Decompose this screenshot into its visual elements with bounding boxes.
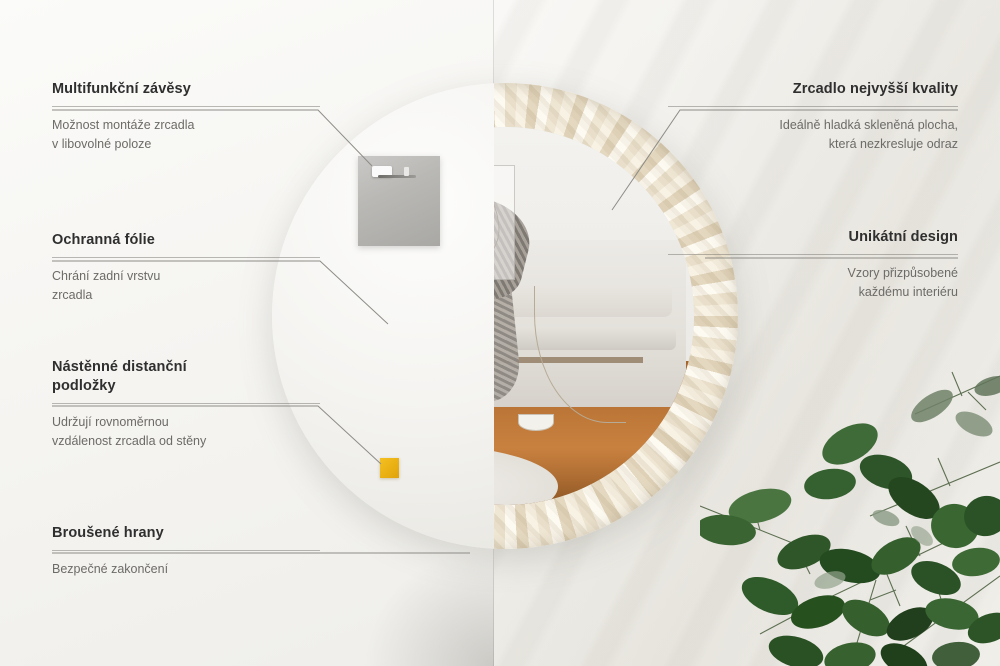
callout-brousene-hrany: Broušené hrany Bezpečné zakončení [52,524,320,579]
callout-ochranna-folie: Ochranná fólie Chrání zadní vrstvu zrcad… [52,231,320,305]
callout-desc-line1: Chrání zadní vrstvu [52,267,320,286]
callout-title: Zrcadlo nejvyšší kvality [668,80,958,99]
callout-nastenne-distancni-podlozky: Nástěnné distanční podložky Udržují rovn… [52,358,320,451]
callout-unikatni-design: Unikátní design Vzory přizpůsobené každé… [668,228,958,302]
plant-leaves [700,372,1000,666]
infographic-canvas: Multifunkční závěsy Možnost montáže zrca… [0,0,1000,666]
callout-zrcadlo-nejvyssi-kvality: Zrcadlo nejvyšší kvality Ideálně hladká … [668,80,958,154]
callout-desc-line2: v libovolné poloze [52,135,320,154]
callout-title: Unikátní design [668,228,958,247]
hanger-tip [404,167,409,176]
callout-desc-line2: zrcadla [52,286,320,305]
plant-foliage [700,366,1000,666]
callout-desc-line2: každému interiéru [668,283,958,302]
callout-rule [52,550,320,551]
callout-rule [52,403,320,404]
callout-multifunkcni-zavesy: Multifunkční závěsy Možnost montáže zrca… [52,80,320,154]
callout-desc-line1: Udržují rovnoměrnou [52,413,320,432]
hanger-bar [378,175,416,178]
callout-desc-line1: Ideálně hladká skleněná plocha, [668,116,958,135]
mirror-back-plate [358,156,440,246]
callout-desc-line2: která nezkresluje odraz [668,135,958,154]
callout-desc-line1: Vzory přizpůsobené [668,264,958,283]
callout-title: Ochranná fólie [52,231,320,250]
callout-desc-line1: Bezpečné zakončení [52,560,320,579]
callout-desc-line1: Možnost montáže zrcadla [52,116,320,135]
callout-rule [668,254,958,255]
corner-shadow [364,546,494,666]
callout-title: Multifunkční závěsy [52,80,320,99]
callout-rule [52,106,320,107]
spacer-pad [380,458,399,478]
callout-desc-line2: vzdálenost zrcadla od stěny [52,432,320,451]
callout-title-line1: Nástěnné distanční [52,358,320,377]
callout-title-line2: podložky [52,377,320,396]
callout-rule [668,106,958,107]
callout-rule [52,257,320,258]
callout-title: Broušené hrany [52,524,320,543]
